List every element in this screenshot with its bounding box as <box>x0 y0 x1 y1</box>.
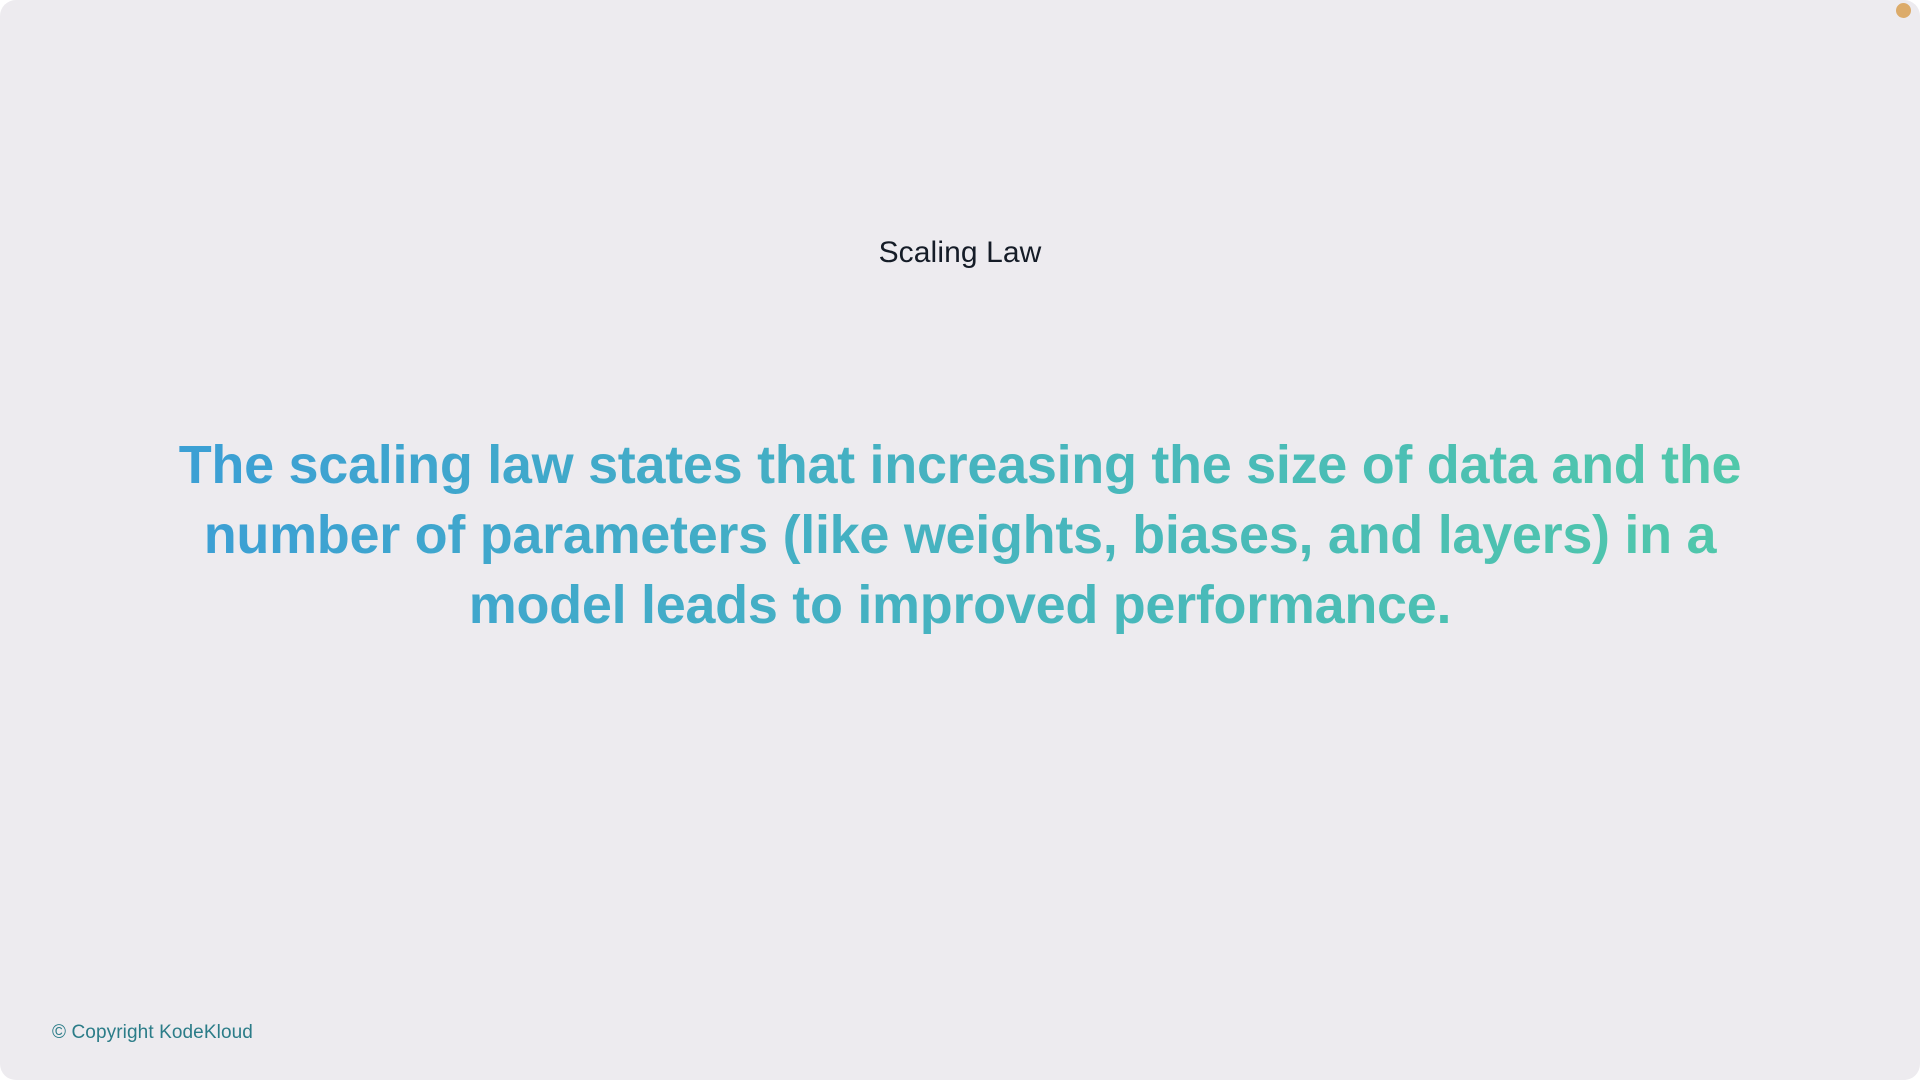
page-title: Scaling Law <box>0 235 1920 271</box>
statement-block: The scaling law states that increasing t… <box>130 430 1790 641</box>
copyright-notice: © Copyright KodeKloud <box>52 1022 253 1044</box>
corner-accent-dot-icon <box>1896 3 1911 18</box>
statement-text: The scaling law states that increasing t… <box>130 430 1790 641</box>
presentation-slide: Scaling Law The scaling law states that … <box>0 0 1920 1080</box>
